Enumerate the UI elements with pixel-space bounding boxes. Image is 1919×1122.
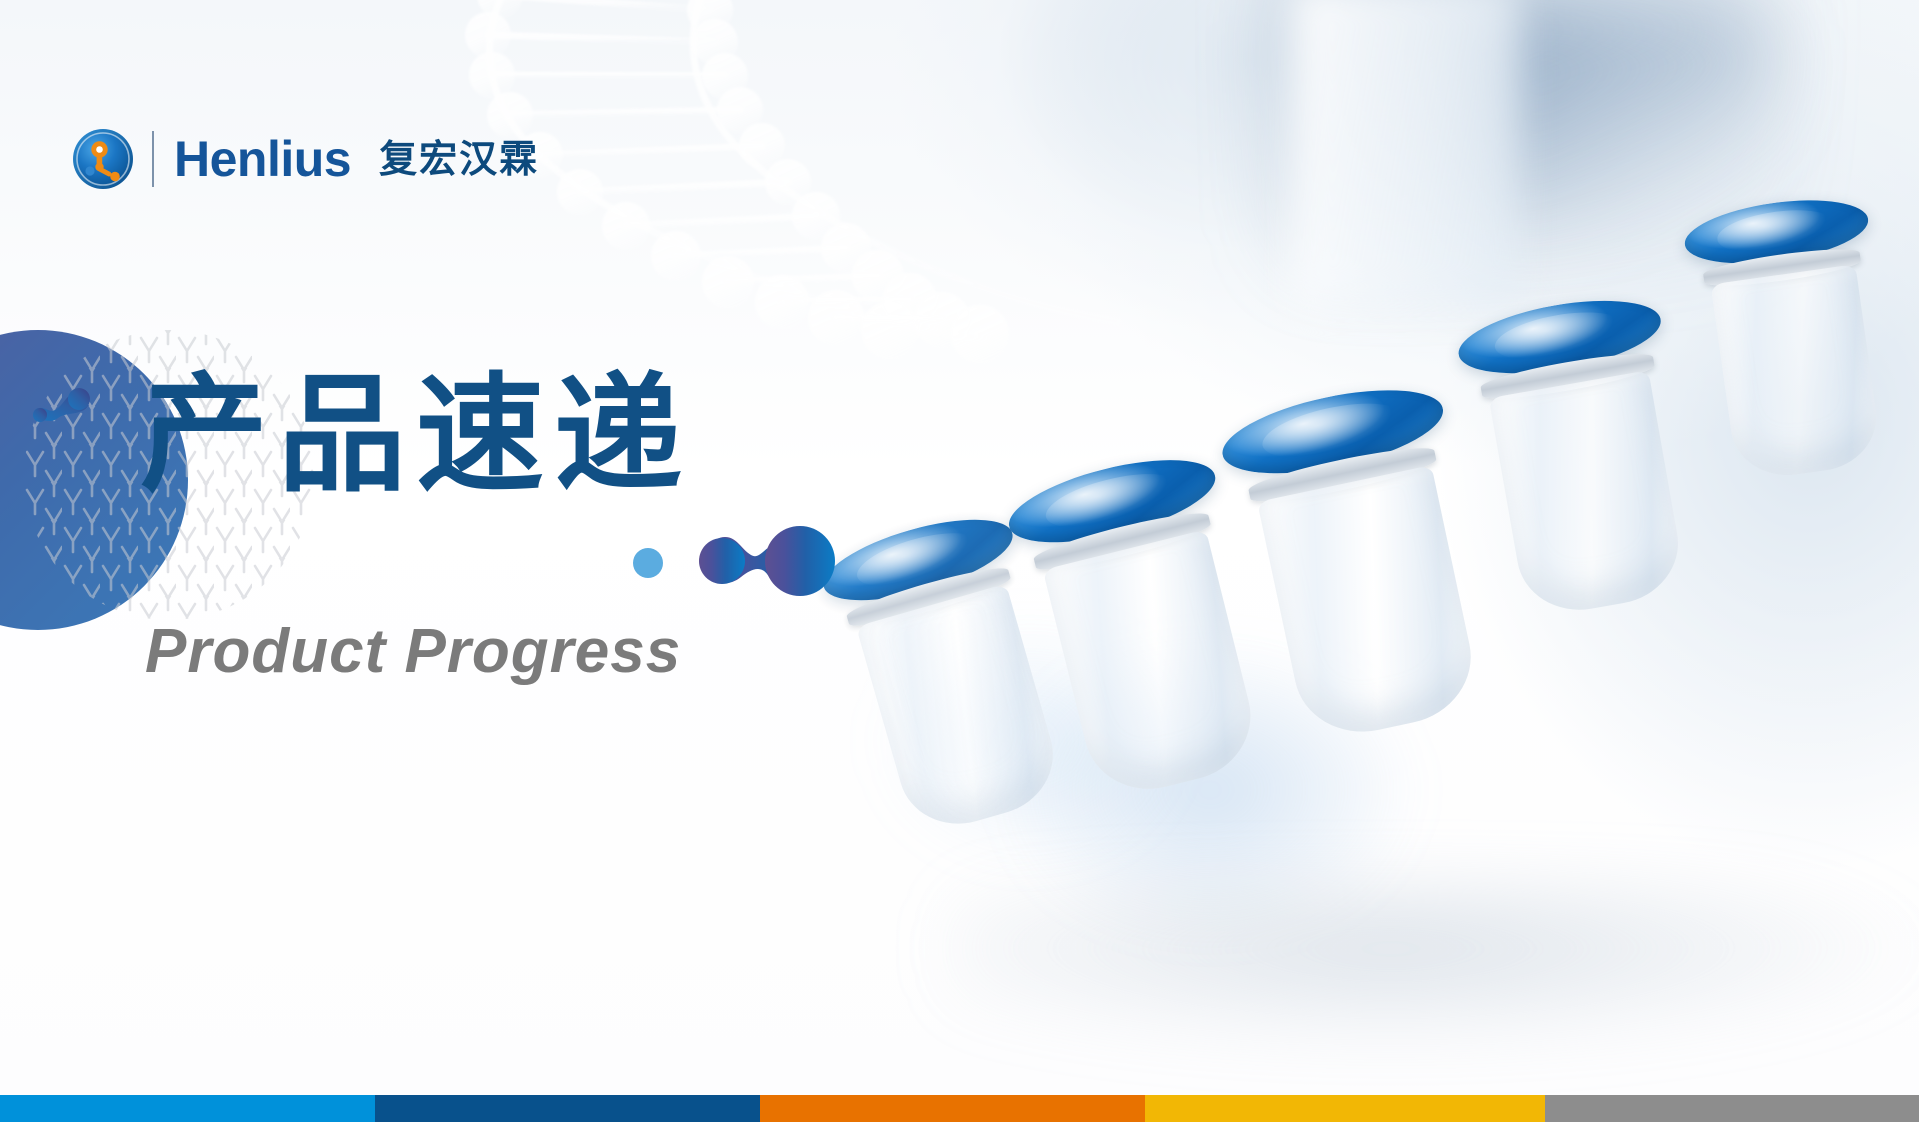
logo-chinese-name: 复宏汉霖 (379, 140, 539, 178)
henlius-molecule-badge-icon (72, 128, 134, 190)
henlius-logo[interactable]: Henlius 复宏汉霖 (72, 126, 539, 192)
molecule-dumbbell-large-icon (693, 525, 838, 597)
photo-blur-cabinet-2 (1480, 20, 1780, 230)
logo-wordmark: Henlius (174, 134, 351, 184)
bar-segment-light-blue (0, 1095, 375, 1122)
page-subtitle: Product Progress (145, 616, 681, 687)
photo-blur-bottle (1290, 0, 1520, 310)
bottom-color-bar (0, 1095, 1919, 1122)
bar-segment-gray (1545, 1095, 1919, 1122)
bar-segment-amber (1145, 1095, 1545, 1122)
slide-root: 产品速递 Product Progress (0, 0, 1919, 1122)
logo-divider (152, 131, 154, 187)
decor-dot-icon (633, 548, 663, 578)
photo-floor-shadow (950, 880, 1919, 1050)
bar-segment-orange (760, 1095, 1145, 1122)
page-title: 产品速递 (140, 372, 692, 500)
molecule-dumbbell-icon (28, 382, 98, 436)
bar-segment-navy (375, 1095, 760, 1122)
